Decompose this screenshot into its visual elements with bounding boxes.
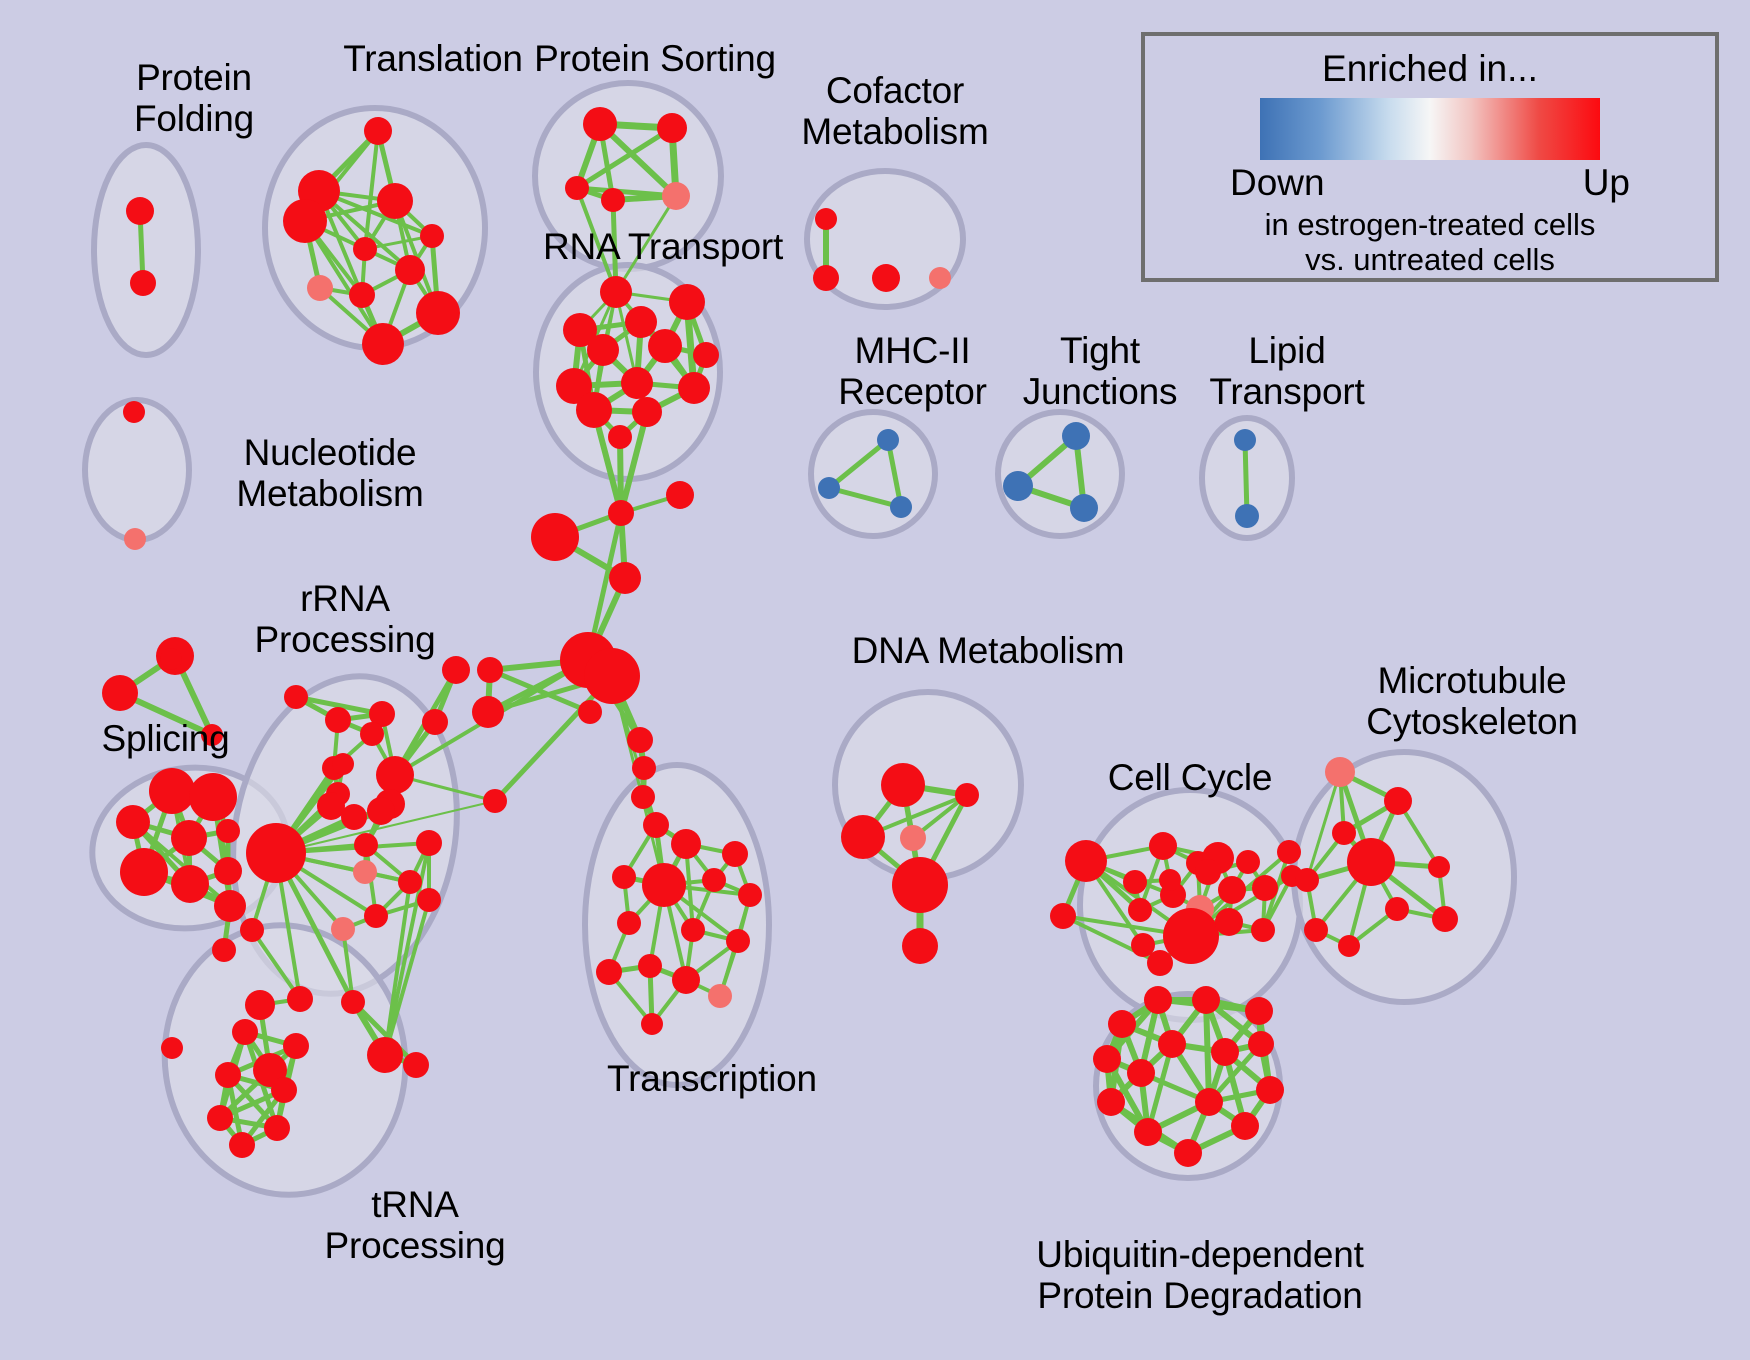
- gene-set-node[interactable]: [353, 860, 377, 884]
- gene-set-node[interactable]: [271, 1077, 297, 1103]
- gene-set-node[interactable]: [1256, 1076, 1284, 1104]
- gene-set-node[interactable]: [955, 783, 979, 807]
- gene-set-node[interactable]: [815, 208, 837, 230]
- gene-set-node[interactable]: [116, 805, 150, 839]
- gene-set-node[interactable]: [892, 857, 948, 913]
- gene-set-node[interactable]: [657, 113, 687, 143]
- gene-set-node[interactable]: [1174, 1139, 1202, 1167]
- gene-set-node[interactable]: [331, 917, 355, 941]
- legend-high-label: Up: [1583, 162, 1630, 204]
- legend-box: Enriched in... Down Up in estrogen-treat…: [1141, 32, 1719, 282]
- gene-set-node[interactable]: [1236, 850, 1260, 874]
- gene-set-node[interactable]: [1252, 875, 1278, 901]
- gene-set-node[interactable]: [584, 648, 640, 704]
- gene-set-node[interactable]: [1065, 840, 1107, 882]
- gene-set-node[interactable]: [1108, 1010, 1136, 1038]
- gene-set-node[interactable]: [872, 264, 900, 292]
- cluster-label-cofactor-metabolism: Cofactor Metabolism: [770, 70, 1020, 153]
- gene-set-node[interactable]: [360, 722, 384, 746]
- gene-set-node[interactable]: [890, 496, 912, 518]
- gene-set-node[interactable]: [362, 323, 404, 365]
- gene-set-node[interactable]: [642, 863, 686, 907]
- gene-set-node[interactable]: [1347, 838, 1395, 886]
- legend-subtitle: in estrogen-treated cells vs. untreated …: [1265, 208, 1596, 277]
- gene-set-node[interactable]: [1211, 1038, 1239, 1066]
- gene-set-node[interactable]: [818, 477, 840, 499]
- gene-set-node[interactable]: [216, 819, 240, 843]
- edge: [1206, 1000, 1209, 1102]
- gene-set-node[interactable]: [1295, 868, 1319, 892]
- gene-set-node[interactable]: [264, 1115, 290, 1141]
- gene-set-node[interactable]: [364, 117, 392, 145]
- gene-set-node[interactable]: [1384, 787, 1412, 815]
- gene-set-node[interactable]: [641, 1013, 663, 1035]
- gene-set-node[interactable]: [416, 830, 442, 856]
- cluster-label-protein-folding: Protein Folding: [84, 57, 304, 140]
- cluster-label-nucleotide-metabolism: Nucleotide Metabolism: [200, 432, 460, 515]
- gene-set-node[interactable]: [608, 425, 632, 449]
- gene-set-node[interactable]: [1325, 757, 1355, 787]
- gene-set-node[interactable]: [722, 841, 748, 867]
- gene-set-node[interactable]: [214, 890, 246, 922]
- gene-set-node[interactable]: [1128, 898, 1152, 922]
- cluster-label-lipid-transport: Lipid Transport: [1177, 330, 1397, 413]
- gene-set-node[interactable]: [349, 282, 375, 308]
- gene-set-node[interactable]: [212, 938, 236, 962]
- gene-set-node[interactable]: [1251, 918, 1275, 942]
- gene-set-node[interactable]: [1195, 859, 1221, 885]
- gene-set-node[interactable]: [1134, 1118, 1162, 1146]
- gene-set-node[interactable]: [877, 429, 899, 451]
- cluster-label-ubiquitin: Ubiquitin-dependent Protein Degradation: [990, 1234, 1410, 1317]
- gene-set-node[interactable]: [364, 904, 388, 928]
- gene-set-node[interactable]: [229, 1132, 255, 1158]
- cluster-label-rna-transport: RNA Transport: [508, 226, 818, 267]
- gene-set-node[interactable]: [377, 183, 413, 219]
- gene-set-node[interactable]: [1158, 1030, 1186, 1058]
- gene-set-node[interactable]: [1123, 870, 1147, 894]
- gene-set-node[interactable]: [1195, 1088, 1223, 1116]
- gene-set-node[interactable]: [648, 329, 682, 363]
- gene-set-node[interactable]: [841, 815, 885, 859]
- gene-set-node[interactable]: [1245, 997, 1273, 1025]
- gene-set-node[interactable]: [625, 306, 657, 338]
- gene-set-node[interactable]: [738, 883, 762, 907]
- cluster-label-microtubule: Microtubule Cytoskeleton: [1322, 660, 1622, 743]
- gene-set-node[interactable]: [325, 707, 351, 733]
- legend-title: Enriched in...: [1322, 48, 1538, 90]
- gene-set-node[interactable]: [627, 727, 653, 753]
- cluster-label-cell-cycle: Cell Cycle: [1065, 757, 1315, 798]
- gene-set-node[interactable]: [638, 954, 662, 978]
- gene-set-node[interactable]: [1144, 986, 1172, 1014]
- gene-set-node[interactable]: [669, 284, 705, 320]
- gene-set-node[interactable]: [284, 685, 308, 709]
- gene-set-node[interactable]: [123, 401, 145, 423]
- gene-set-node[interactable]: [207, 1105, 233, 1131]
- gene-set-node[interactable]: [608, 500, 634, 526]
- gene-set-node[interactable]: [417, 888, 441, 912]
- gene-set-node[interactable]: [632, 397, 662, 427]
- gene-set-node[interactable]: [1097, 1088, 1125, 1116]
- gene-set-node[interactable]: [902, 928, 938, 964]
- gene-set-node[interactable]: [813, 265, 839, 291]
- gene-set-node[interactable]: [666, 481, 694, 509]
- gene-set-node[interactable]: [631, 785, 655, 809]
- gene-set-node[interactable]: [632, 756, 656, 780]
- gene-set-node[interactable]: [354, 833, 378, 857]
- gene-set-node[interactable]: [214, 857, 242, 885]
- gene-set-node[interactable]: [662, 182, 690, 210]
- pathway-network-figure: Protein FoldingTranslationProtein Sortin…: [0, 0, 1750, 1360]
- gene-set-node[interactable]: [367, 1037, 403, 1073]
- gene-set-node[interactable]: [578, 700, 602, 724]
- gene-set-node[interactable]: [149, 768, 195, 814]
- gene-set-node[interactable]: [1235, 504, 1259, 528]
- cluster-label-rrna-processing: rRNA Processing: [225, 578, 465, 661]
- gene-set-node[interactable]: [395, 255, 425, 285]
- gene-set-node[interactable]: [483, 789, 507, 813]
- gene-set-node[interactable]: [600, 276, 632, 308]
- gene-set-node[interactable]: [376, 756, 414, 794]
- gene-set-node[interactable]: [1163, 908, 1219, 964]
- gene-set-node[interactable]: [171, 820, 207, 856]
- gene-set-node[interactable]: [617, 911, 641, 935]
- gene-set-node[interactable]: [215, 1062, 241, 1088]
- gene-set-node[interactable]: [1304, 918, 1328, 942]
- gene-set-node[interactable]: [900, 825, 926, 851]
- gene-set-node[interactable]: [332, 753, 354, 775]
- gene-set-node[interactable]: [1159, 869, 1181, 891]
- gene-set-node[interactable]: [1070, 494, 1098, 522]
- gene-set-node[interactable]: [353, 237, 377, 261]
- gene-set-node[interactable]: [1131, 933, 1155, 957]
- gene-set-node[interactable]: [1062, 422, 1090, 450]
- gene-set-node[interactable]: [232, 1019, 258, 1045]
- gene-set-node[interactable]: [317, 792, 345, 820]
- gene-set-node[interactable]: [565, 176, 589, 200]
- gene-set-node[interactable]: [341, 990, 365, 1014]
- gene-set-node[interactable]: [881, 763, 925, 807]
- gene-set-node[interactable]: [420, 224, 444, 248]
- gene-set-node[interactable]: [102, 675, 138, 711]
- gene-set-node[interactable]: [472, 696, 504, 728]
- gene-set-node[interactable]: [1432, 906, 1458, 932]
- gene-set-node[interactable]: [161, 1037, 183, 1059]
- gene-set-node[interactable]: [416, 291, 460, 335]
- gene-set-node[interactable]: [1234, 429, 1256, 451]
- gene-set-node[interactable]: [1215, 908, 1243, 936]
- cluster-halo-mhc-ii-receptor: [811, 412, 935, 536]
- gene-set-node[interactable]: [708, 984, 732, 1008]
- gene-set-node[interactable]: [702, 868, 726, 892]
- gene-set-node[interactable]: [1127, 1059, 1155, 1087]
- gene-set-node[interactable]: [531, 513, 579, 561]
- gene-set-node[interactable]: [1218, 876, 1246, 904]
- cluster-label-splicing: Splicing: [58, 718, 273, 759]
- gene-set-node[interactable]: [612, 865, 636, 889]
- gene-set-node[interactable]: [246, 823, 306, 883]
- gene-set-node[interactable]: [189, 773, 237, 821]
- gene-set-node[interactable]: [240, 918, 264, 942]
- gene-set-node[interactable]: [283, 199, 327, 243]
- gene-set-node[interactable]: [678, 372, 710, 404]
- gene-set-node[interactable]: [693, 342, 719, 368]
- gene-set-node[interactable]: [287, 986, 313, 1012]
- gene-set-node[interactable]: [130, 270, 156, 296]
- gene-set-node[interactable]: [609, 562, 641, 594]
- gene-set-node[interactable]: [587, 334, 619, 366]
- gene-set-node[interactable]: [341, 804, 367, 830]
- cluster-label-transcription: Transcription: [562, 1058, 862, 1099]
- gene-set-node[interactable]: [1338, 935, 1360, 957]
- gene-set-node[interactable]: [1093, 1045, 1121, 1073]
- gene-set-node[interactable]: [1149, 832, 1177, 860]
- gene-set-node[interactable]: [929, 267, 951, 289]
- gene-set-node[interactable]: [307, 275, 333, 301]
- gene-set-node[interactable]: [126, 197, 154, 225]
- gene-set-node[interactable]: [367, 797, 395, 825]
- legend-colorbar: [1260, 98, 1600, 160]
- cluster-label-dna-metabolism: DNA Metabolism: [818, 630, 1158, 671]
- gene-set-node[interactable]: [1428, 856, 1450, 878]
- gene-set-node[interactable]: [643, 812, 669, 838]
- gene-set-node[interactable]: [1277, 840, 1301, 864]
- gene-set-node[interactable]: [1332, 821, 1356, 845]
- cluster-label-trna-processing: tRNA Processing: [295, 1184, 535, 1267]
- gene-set-node[interactable]: [160, 648, 182, 670]
- gene-set-node[interactable]: [1248, 1031, 1274, 1057]
- gene-set-node[interactable]: [124, 528, 146, 550]
- gene-set-node[interactable]: [576, 392, 612, 428]
- gene-set-node[interactable]: [672, 966, 700, 994]
- gene-set-node[interactable]: [477, 657, 503, 683]
- legend-low-label: Down: [1230, 162, 1325, 204]
- gene-set-node[interactable]: [283, 1033, 309, 1059]
- gene-set-node[interactable]: [245, 990, 275, 1020]
- gene-set-node[interactable]: [1003, 471, 1033, 501]
- gene-set-node[interactable]: [596, 959, 622, 985]
- gene-set-node[interactable]: [1385, 897, 1409, 921]
- cluster-halo-protein-folding: [94, 145, 198, 355]
- gene-set-node[interactable]: [681, 918, 705, 942]
- gene-set-node[interactable]: [726, 929, 750, 953]
- gene-set-node[interactable]: [1231, 1112, 1259, 1140]
- gene-set-node[interactable]: [120, 848, 168, 896]
- gene-set-node[interactable]: [1192, 986, 1220, 1014]
- gene-set-node[interactable]: [583, 107, 617, 141]
- gene-set-node[interactable]: [422, 709, 448, 735]
- gene-set-node[interactable]: [621, 367, 653, 399]
- gene-set-node[interactable]: [671, 829, 701, 859]
- gene-set-node[interactable]: [171, 865, 209, 903]
- gene-set-node[interactable]: [1050, 903, 1076, 929]
- gene-set-node[interactable]: [403, 1052, 429, 1078]
- gene-set-node[interactable]: [398, 870, 422, 894]
- gene-set-node[interactable]: [601, 188, 625, 212]
